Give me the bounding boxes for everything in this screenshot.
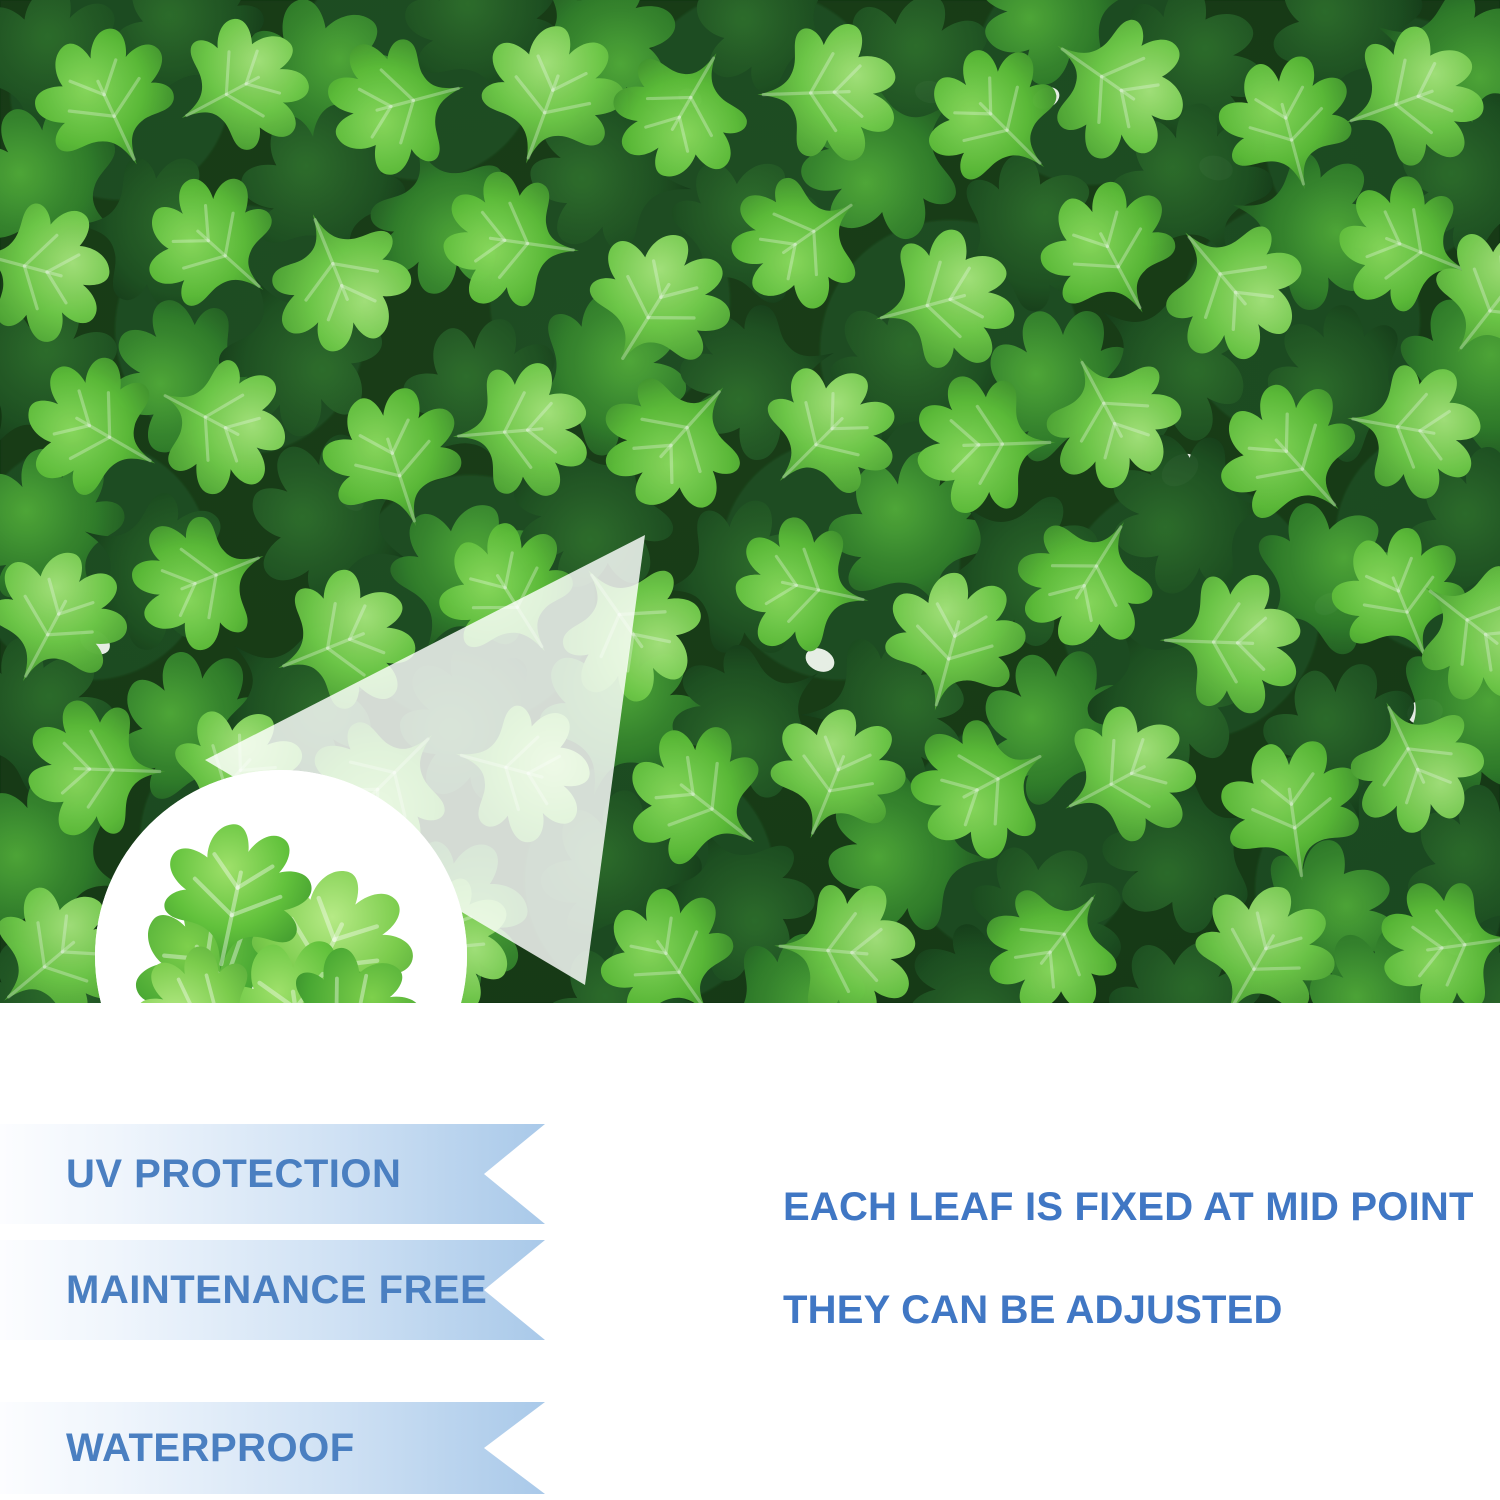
feature-banner-label: WATERPROOF	[0, 1426, 355, 1471]
magnified-leaf-callout	[95, 770, 467, 1003]
feature-banner-label: MAINTENANCE FREE	[0, 1268, 487, 1313]
feature-banner-waterproof: WATERPROOF	[0, 1402, 545, 1494]
feature-banner-uv-protection: UV PROTECTION	[0, 1124, 545, 1224]
feature-banner-maintenance-free: MAINTENANCE FREE	[0, 1240, 545, 1340]
feature-text-block: EACH LEAF IS FIXED AT MID POINT THEY CAN…	[783, 1185, 1473, 1333]
feature-text-line: EACH LEAF IS FIXED AT MID POINT	[783, 1185, 1473, 1230]
feature-text-line: THEY CAN BE ADJUSTED	[783, 1288, 1473, 1333]
magnified-leaf-cluster	[95, 770, 467, 1003]
ivy-hedge-photo	[0, 0, 1500, 1003]
product-feature-graphic: UV PROTECTION MAINTENANCE FREE	[0, 0, 1500, 1500]
feature-banner-label: UV PROTECTION	[0, 1152, 401, 1197]
feature-panel: UV PROTECTION MAINTENANCE FREE	[0, 1003, 1500, 1500]
